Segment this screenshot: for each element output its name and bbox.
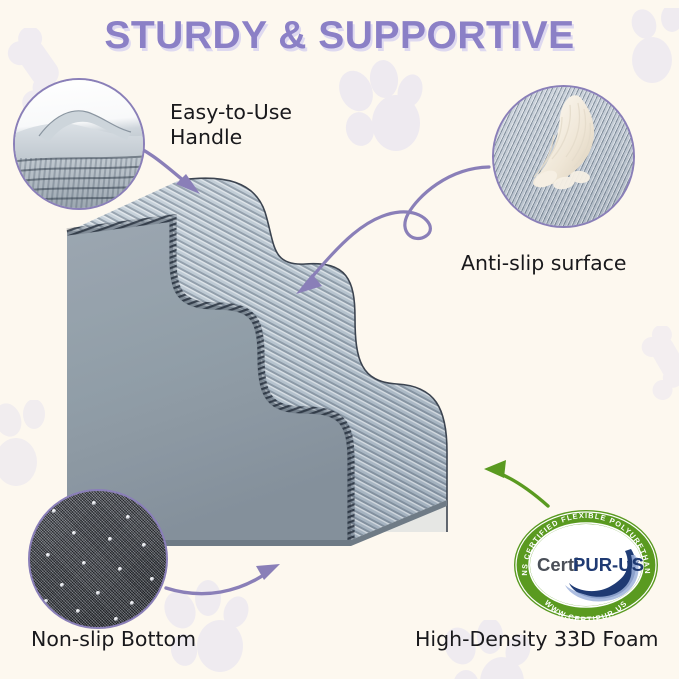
paw-watermark-top-center <box>320 55 430 165</box>
bone-watermark-right <box>628 326 679 400</box>
badge-registered-mark: ® <box>634 557 640 565</box>
page-title: STURDY & SUPPORTIVE <box>0 14 679 58</box>
handle-shape <box>15 80 143 208</box>
detail-circle-non-slip-bottom[interactable] <box>28 489 168 629</box>
label-anti-slip-surface: Anti-slip surface <box>461 251 627 276</box>
detail-circle-anti-slip-surface[interactable] <box>492 85 635 228</box>
label-non-slip-bottom: Non-slip Bottom <box>31 627 196 652</box>
certipur-us-badge[interactable]: CONTAINS CERTIFIED FLEXIBLE POLYURETHANE… <box>513 503 659 621</box>
non-slip-dots <box>30 491 166 627</box>
label-high-density-foam: High-Density 33D Foam <box>415 627 659 652</box>
detail-circle-handle[interactable] <box>13 78 145 210</box>
dog-paw-fur <box>494 87 633 226</box>
paw-watermark-left-edge <box>0 400 52 490</box>
label-line-2: Handle <box>170 125 292 150</box>
label-easy-to-use-handle: Easy-to-Use Handle <box>170 100 292 150</box>
infographic-canvas: STURDY & SUPPORTIVE <box>0 0 679 679</box>
label-line-1: Easy-to-Use <box>170 100 292 125</box>
